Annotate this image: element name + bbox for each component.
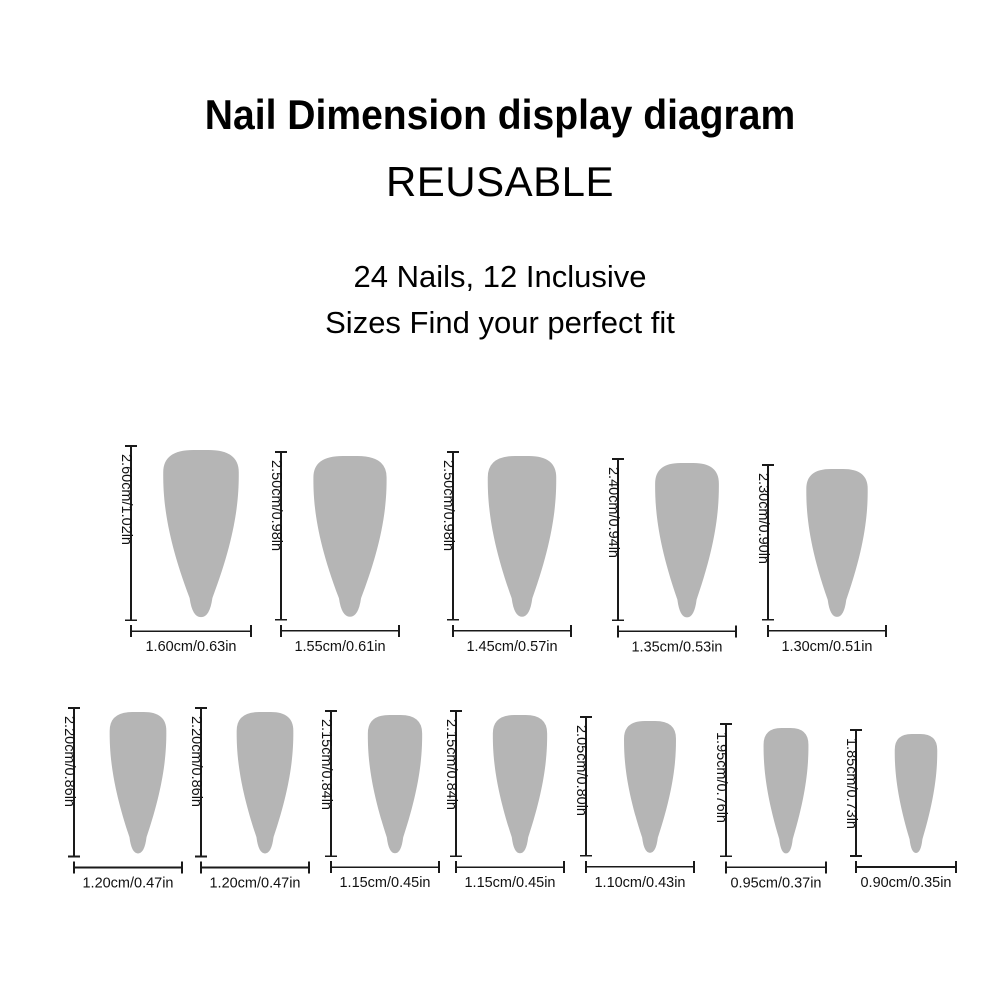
width-label-11: 0.95cm/0.37in: [731, 875, 822, 891]
nail-dimension-diagram: Nail Dimension display diagram REUSABLE …: [0, 0, 1000, 1000]
nail-shape-10: [624, 721, 676, 853]
width-dimension-line-3: [453, 625, 571, 637]
width-dimension-line-11: [726, 861, 826, 873]
width-dimension-line-2: [281, 625, 399, 637]
subtitle-line-2: Sizes Find your perfect fit: [0, 305, 1000, 341]
page-title: Nail Dimension display diagram: [35, 92, 965, 138]
nail-shape-12: [895, 734, 938, 853]
width-label-2: 1.55cm/0.61in: [294, 639, 385, 655]
width-dimension-line-7: [201, 861, 309, 873]
width-label-9: 1.15cm/0.45in: [465, 875, 556, 891]
nail-size-item-3: 2.50cm/0.98in1.45cm/0.57in: [427, 438, 615, 660]
width-dimension-line-9: [456, 861, 564, 873]
width-label-10: 1.10cm/0.43in: [595, 875, 686, 891]
nail-shape-5: [806, 469, 867, 617]
height-label-9: 2.15cm/0.84in: [443, 719, 459, 810]
width-label-8: 1.15cm/0.45in: [340, 875, 431, 891]
nail-shape-9: [493, 715, 547, 853]
height-label-1: 2.60cm/1.02in: [118, 454, 134, 545]
width-label-6: 1.20cm/0.47in: [83, 875, 174, 891]
height-label-3: 2.50cm/0.98in: [440, 460, 456, 551]
width-dimension-line-6: [74, 861, 182, 873]
width-label-7: 1.20cm/0.47in: [210, 875, 301, 891]
nail-shape-6: [110, 712, 167, 853]
height-label-4: 2.40cm/0.94in: [605, 467, 621, 558]
width-dimension-line-1: [131, 625, 251, 637]
nail-size-item-12: 1.85cm/0.73in0.90cm/0.35in: [830, 716, 1000, 896]
height-label-10: 2.05cm/0.80in: [573, 725, 589, 816]
nail-shape-8: [368, 715, 422, 853]
nail-shape-7: [237, 712, 294, 853]
height-label-11: 1.95cm/0.76in: [713, 732, 729, 823]
width-label-12: 0.90cm/0.35in: [861, 875, 952, 891]
subtitle-line-1: 24 Nails, 12 Inclusive: [0, 259, 1000, 295]
width-dimension-line-5: [768, 625, 886, 637]
width-label-4: 1.35cm/0.53in: [632, 639, 723, 655]
height-label-6: 2.20cm/0.86in: [61, 716, 77, 807]
width-label-1: 1.60cm/0.63in: [146, 639, 237, 655]
height-label-12: 1.85cm/0.73in: [843, 738, 859, 829]
height-label-2: 2.50cm/0.98in: [268, 460, 284, 551]
height-label-7: 2.20cm/0.86in: [188, 716, 204, 807]
width-dimension-line-8: [331, 861, 439, 873]
nail-shape-3: [488, 456, 556, 617]
nail-size-item-5: 2.30cm/0.90in1.30cm/0.51in: [742, 451, 930, 660]
width-dimension-line-10: [586, 861, 694, 873]
nail-shape-4: [655, 463, 719, 617]
subtitle-reusable: REUSABLE: [0, 158, 1000, 206]
width-dimension-line-12: [856, 861, 956, 873]
nail-shape-1: [163, 450, 239, 617]
width-label-5: 1.30cm/0.51in: [782, 639, 873, 655]
nail-size-item-2: 2.50cm/0.98in1.55cm/0.61in: [255, 438, 443, 660]
height-label-8: 2.15cm/0.84in: [318, 719, 334, 810]
height-label-5: 2.30cm/0.90in: [755, 473, 771, 564]
nail-shape-2: [313, 456, 386, 617]
width-label-3: 1.45cm/0.57in: [466, 639, 557, 655]
width-dimension-line-4: [618, 625, 736, 637]
nail-shape-11: [764, 728, 809, 853]
